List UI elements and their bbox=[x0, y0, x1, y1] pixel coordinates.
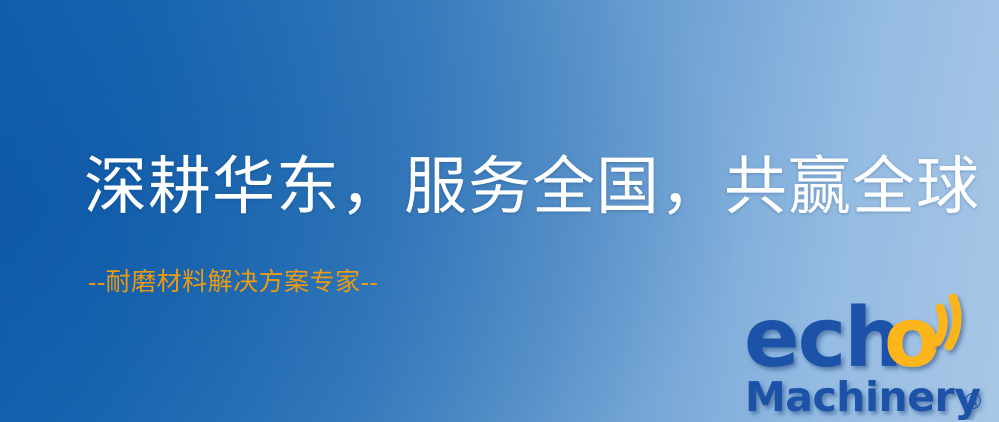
page-title: 深耕华东，服务全国，共赢全球 bbox=[84, 152, 980, 223]
logo-wordmark-o: o bbox=[884, 292, 940, 386]
signal-waves-icon bbox=[937, 298, 957, 346]
page-subtitle: --耐磨材料解决方案专家-- bbox=[88, 268, 378, 298]
logo-wordmark-ech: ech bbox=[744, 292, 901, 386]
hero-banner: 深耕华东，服务全国，共赢全球 --耐磨材料解决方案专家-- ech o bbox=[0, 0, 999, 422]
company-logo[interactable]: ech o Machinery ® bbox=[744, 292, 996, 420]
logo-ech-text: ech bbox=[744, 292, 901, 386]
registered-trademark-icon: ® bbox=[962, 390, 984, 415]
logo-machinery-text: Machinery bbox=[745, 373, 980, 420]
logo-o-text: o bbox=[884, 292, 940, 386]
logo-subbrand: Machinery ® bbox=[745, 373, 984, 420]
